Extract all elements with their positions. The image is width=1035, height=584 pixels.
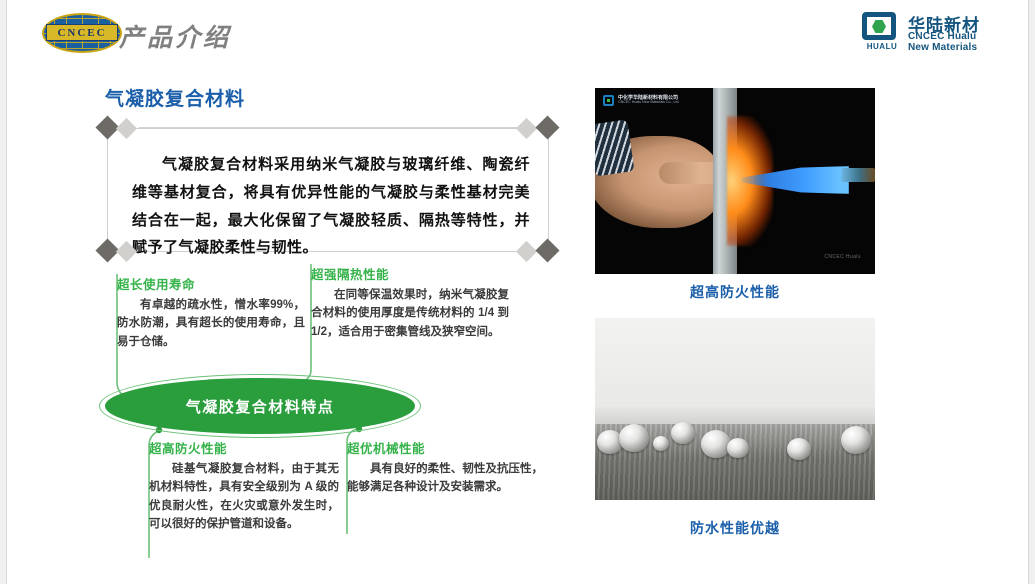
section-title: 气凝胶复合材料 (105, 84, 245, 111)
watermark-en-text: CNCEC Hualu New Materials Co., Ltd. (618, 101, 680, 105)
slide-header: CNCEC 产品介绍 HUALU 华陆新材 CNCEC Hualu New Ma… (7, 0, 1028, 62)
feature-item-fireproof: 超高防火性能 硅基气凝胶复合材料，由于其无机材料特性，具有安全级别为 A 级的优… (149, 438, 339, 534)
feature-title: 超强隔热性能 (311, 264, 509, 283)
feature-body: 具有良好的柔性、韧性及抗压性，能够满足各种设计及安装需求。 (347, 460, 543, 497)
water-droplet (619, 424, 649, 452)
water-repellency-image (595, 318, 875, 500)
cncec-logo: CNCEC (42, 11, 122, 55)
page-title: 产品介绍 (119, 18, 231, 54)
feature-item-mechanical: 超优机械性能 具有良好的柔性、韧性及抗压性，能够满足各种设计及安装需求。 (347, 438, 543, 497)
water-photo (595, 318, 875, 500)
hualu-logo: HUALU 华陆新材 CNCEC Hualu New Materials (860, 12, 1010, 54)
feature-item-insulation: 超强隔热性能 在同等保温效果时，纳米气凝胶复合材料的使用厚度是传统材料的 1/4… (311, 264, 509, 341)
hualu-en-line2: New Materials (908, 42, 977, 53)
fire-photo: 中化学华陆新材料有限公司 CNCEC Hualu New Materials C… (595, 88, 875, 274)
image-watermark: 中化学华陆新材料有限公司 CNCEC Hualu New Materials C… (603, 95, 680, 106)
cncec-band-label: CNCEC (46, 24, 118, 41)
center-ellipse-label: 气凝胶复合材料特点 (186, 396, 335, 417)
water-image-caption: 防水性能优越 (595, 518, 875, 538)
description-box: 气凝胶复合材料采用纳米气凝胶与玻璃纤维、陶瓷纤维等基材复合，将具有优异性能的气凝… (107, 128, 549, 252)
description-panel: 气凝胶复合材料采用纳米气凝胶与玻璃纤维、陶瓷纤维等基材复合，将具有优异性能的气凝… (99, 120, 557, 260)
torch-nozzle-shape (841, 168, 875, 182)
feature-diagram: 气凝胶复合材料特点 超长使用寿命 有卓越的疏水性，憎水率99%，防水防潮，具有超… (99, 262, 569, 562)
feature-title: 超优机械性能 (347, 438, 543, 457)
hualu-sub-label: HUALU (860, 42, 904, 51)
water-droplet (701, 430, 731, 458)
water-droplet (727, 438, 749, 458)
water-droplet (653, 436, 669, 451)
hualu-en-line1: CNCEC Hualu (908, 31, 976, 42)
water-droplet (671, 422, 695, 444)
fire-image-caption: 超高防火性能 (595, 282, 875, 302)
watermark-logo-icon (603, 95, 614, 106)
sleeve-shape (595, 119, 634, 176)
feature-title: 超高防火性能 (149, 438, 339, 457)
description-text: 气凝胶复合材料采用纳米气凝胶与玻璃纤维、陶瓷纤维等基材复合，将具有优异性能的气凝… (132, 151, 530, 262)
feature-title: 超长使用寿命 (117, 274, 305, 293)
hualu-bracket-icon (860, 12, 902, 42)
center-ellipse: 气凝胶复合材料特点 (105, 378, 415, 434)
slide-canvas: CNCEC 产品介绍 HUALU 华陆新材 CNCEC Hualu New Ma… (6, 0, 1029, 584)
feature-body: 有卓越的疏水性，憎水率99%，防水防潮，具有超长的使用寿命，且易于仓储。 (117, 296, 305, 351)
feature-body: 硅基气凝胶复合材料，由于其无机材料特性，具有安全级别为 A 级的优良耐火性，在火… (149, 460, 339, 534)
feature-item-longevity: 超长使用寿命 有卓越的疏水性，憎水率99%，防水防潮，具有超长的使用寿命，且易于… (117, 274, 305, 351)
water-droplet (841, 426, 871, 454)
corner-watermark-text: CNCEC Hualu (824, 254, 861, 260)
water-droplet (787, 438, 811, 460)
feature-body: 在同等保温效果时，纳米气凝胶复合材料的使用厚度是传统材料的 1/4 到 1/2，… (311, 286, 509, 341)
fire-test-image: 中化学华陆新材料有限公司 CNCEC Hualu New Materials C… (595, 88, 875, 274)
